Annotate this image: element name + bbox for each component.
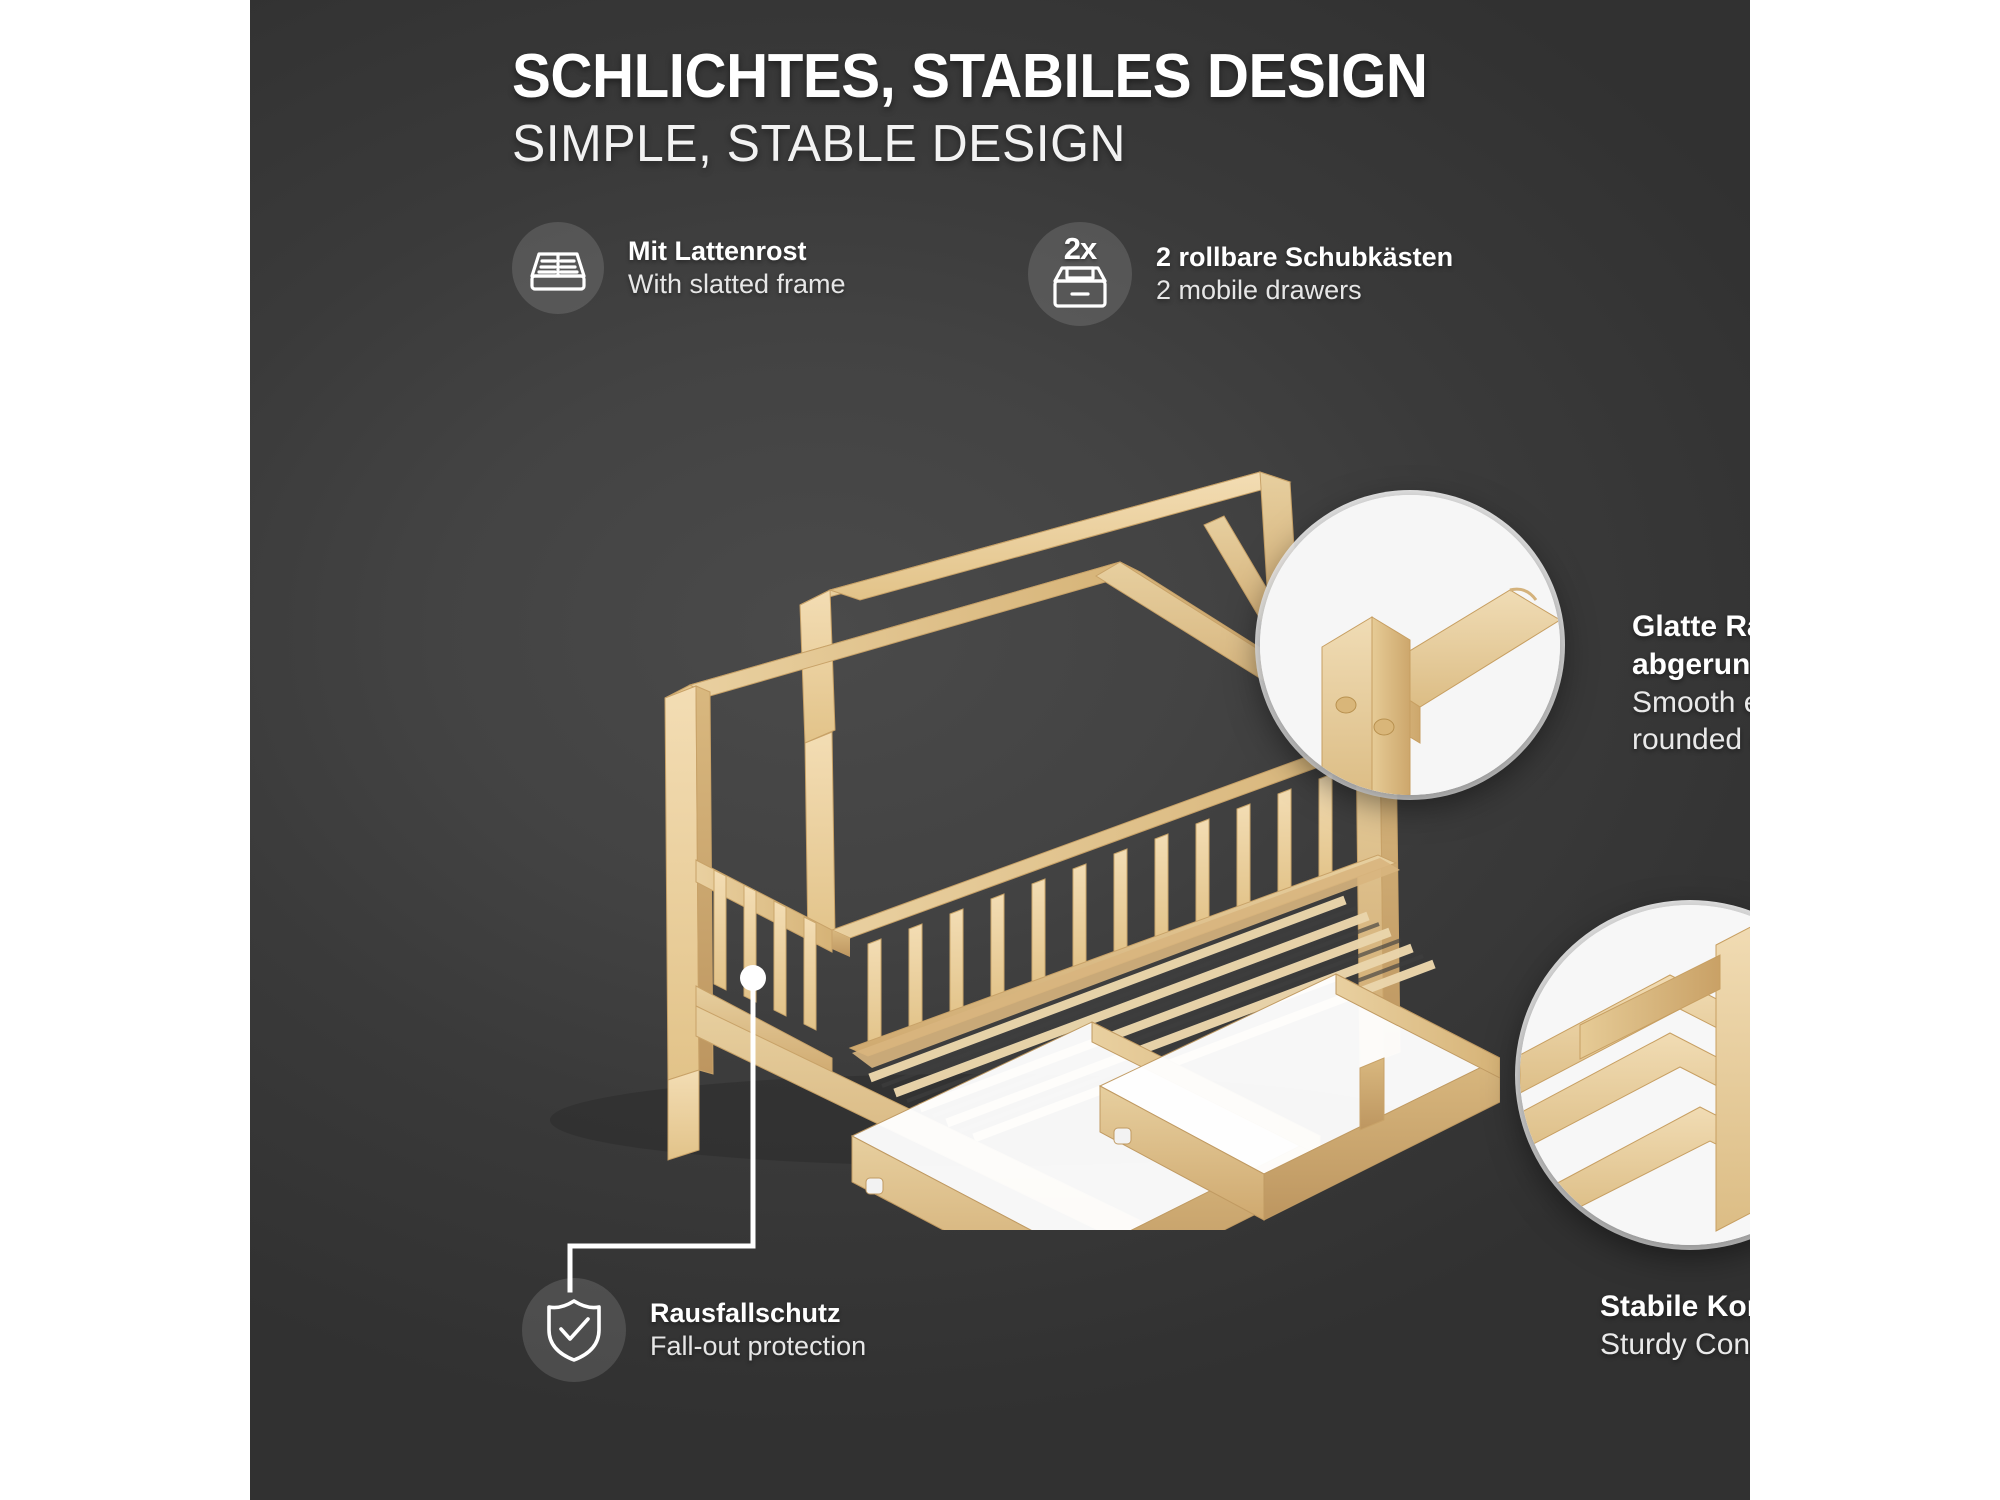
drawer-icon [1049, 265, 1111, 309]
page-subtitle: SIMPLE, STABLE DESIGN [512, 118, 1664, 170]
drawer-count-badge: 2x [1028, 231, 1132, 267]
drawer-label-de: 2 rollbare Schubkästen [1156, 241, 1453, 274]
drawer-text: 2 rollbare Schubkästen 2 mobile drawers [1156, 241, 1453, 308]
callout-sturdy-construction: Stabile Konstruktion Sturdy Construction [1600, 1288, 1750, 1364]
infographic-page: SCHLICHTES, STABILES DESIGN SIMPLE, STAB… [0, 0, 2000, 1500]
detail-circle-sturdy-construction [1520, 905, 1750, 1245]
slatted-frame-label-de: Mit Lattenrost [628, 235, 846, 268]
fall-out-label-de: Rausfallschutz [650, 1297, 866, 1330]
smooth-edges-en-line1: Smooth edges and [1632, 684, 1750, 722]
feature-slatted-frame: Mit Lattenrost With slatted frame [512, 222, 846, 314]
page-title: SCHLICHTES, STABILES DESIGN [512, 46, 1640, 108]
smooth-edges-de-line1: Glatte Ränder und [1632, 608, 1750, 646]
feature-drawers: 2x 2 rollbare Schubkästen 2 mobile drawe… [1028, 222, 1453, 326]
fall-out-text: Rausfallschutz Fall-out protection [650, 1297, 866, 1364]
sturdy-label-en: Sturdy Construction [1600, 1326, 1750, 1364]
slatted-frame-icon-circle [512, 222, 604, 314]
drawer-icon-circle: 2x [1028, 222, 1132, 326]
callout-connector [500, 960, 920, 1330]
slatted-frame-label-en: With slatted frame [628, 268, 846, 301]
detail-circle-smooth-edges [1260, 495, 1560, 795]
shield-icon-circle [522, 1278, 626, 1382]
callout-smooth-edges: Glatte Ränder und abgerundete Ecken Smoo… [1632, 608, 1750, 759]
smooth-edges-de-line2: abgerundete Ecken [1632, 646, 1750, 684]
sturdy-label-de: Stabile Konstruktion [1600, 1288, 1750, 1326]
shield-check-icon [544, 1297, 604, 1363]
dark-background-panel: SCHLICHTES, STABILES DESIGN SIMPLE, STAB… [250, 0, 1750, 1500]
fall-out-label-en: Fall-out protection [650, 1330, 866, 1363]
feature-fall-out-protection: Rausfallschutz Fall-out protection [522, 1278, 866, 1382]
smooth-edges-en-line2: rounded corners [1632, 721, 1750, 759]
slatted-frame-text: Mit Lattenrost With slatted frame [628, 235, 846, 302]
slatted-frame-icon [528, 242, 588, 294]
drawer-label-en: 2 mobile drawers [1156, 274, 1453, 307]
